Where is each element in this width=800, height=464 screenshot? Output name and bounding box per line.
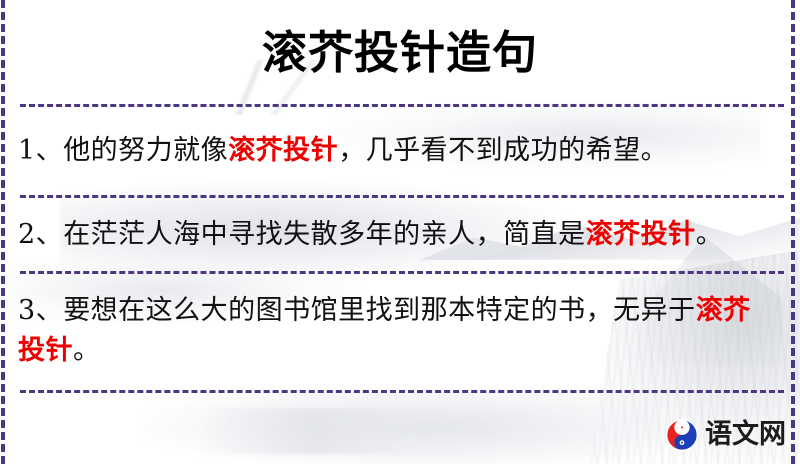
sentence-2-index: 2、 <box>18 219 63 250</box>
slide-page: 滚芥投针造句 1、他的努力就像滚芥投针，几乎看不到成功的希望。 2、在茫茫人海中… <box>0 0 800 464</box>
example-sentence-3: 3、要想在这么大的图书馆里找到那本特定的书，无异于滚芥投针。 <box>18 291 758 371</box>
sentence-2-text-b: 。 <box>696 219 724 250</box>
sentence-3-text-b: 。 <box>73 335 101 366</box>
sentence-2-idiom: 滚芥投针 <box>586 219 696 250</box>
separator-line-2 <box>20 195 784 198</box>
example-sentence-1: 1、他的努力就像滚芥投针，几乎看不到成功的希望。 <box>18 131 780 171</box>
example-sentence-2: 2、在茫茫人海中寻找失散多年的亲人，简直是滚芥投针。 <box>18 215 780 255</box>
separator-line-1 <box>20 104 784 107</box>
watermark-mist-bottom <box>140 390 660 464</box>
site-logo[interactable]: 语文网 <box>665 418 786 452</box>
separator-line-4 <box>20 390 784 393</box>
sentence-1-text-b: ，几乎看不到成功的希望。 <box>338 135 668 166</box>
separator-line-3 <box>20 271 784 274</box>
sentence-3-text-a: 要想在这么大的图书馆里找到那本特定的书，无异于 <box>63 295 696 326</box>
page-title: 滚芥投针造句 <box>0 24 800 82</box>
sentence-1-index: 1、 <box>18 135 63 166</box>
sentence-1-idiom: 滚芥投针 <box>228 135 338 166</box>
site-logo-text: 语文网 <box>705 420 786 450</box>
sentence-3-index: 3、 <box>18 295 63 326</box>
watermark-smear-bottom <box>200 408 500 454</box>
sentence-1-text-a: 他的努力就像 <box>63 135 228 166</box>
sentence-2-text-a: 在茫茫人海中寻找失散多年的亲人，简直是 <box>63 219 586 250</box>
taiji-yin-yang-icon <box>665 418 699 452</box>
